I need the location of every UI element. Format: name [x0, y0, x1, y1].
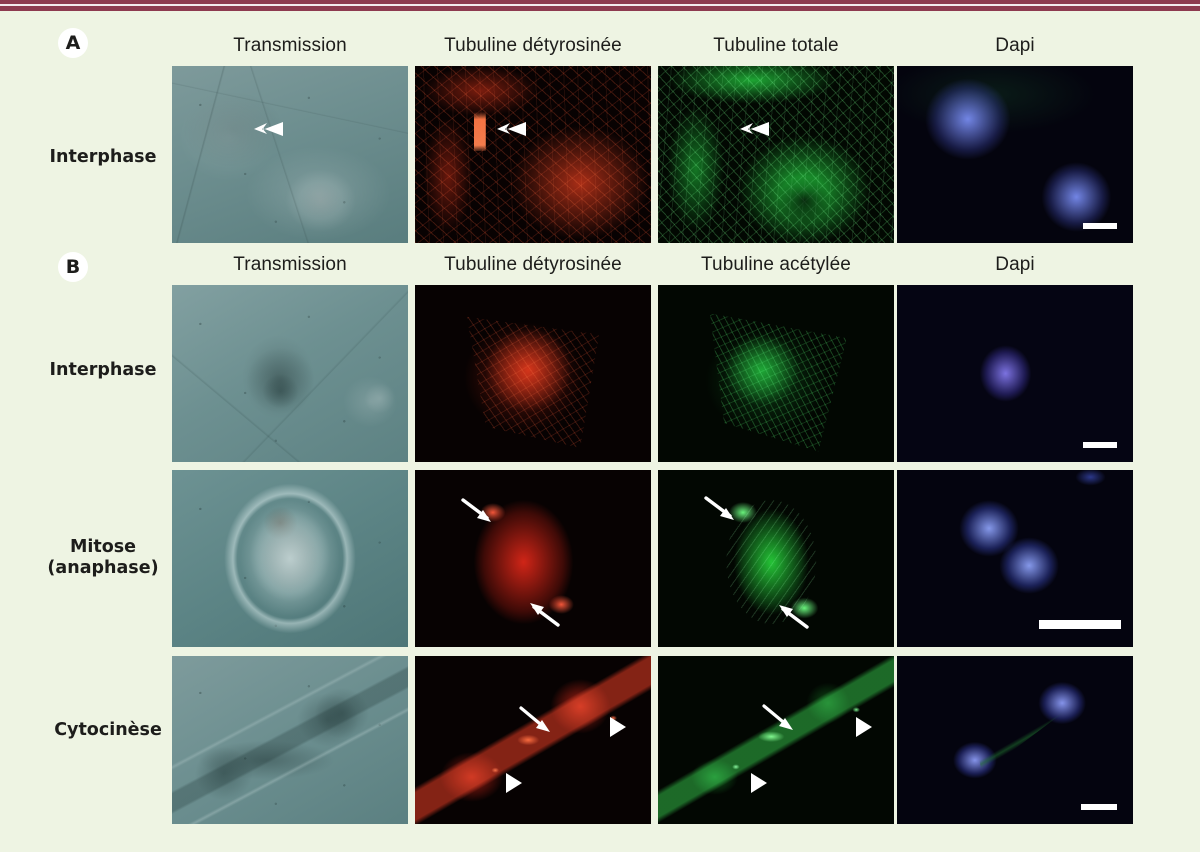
panel-b-mitosis-transmission: [172, 470, 408, 647]
green-nucleus-shadow: [658, 66, 894, 243]
panel-b-row-label-interphase: Interphase: [38, 360, 168, 381]
panel-b-header-acetylated-tubulin: Tubuline acétylée: [658, 254, 894, 276]
panel-b-interphase-dapi: [897, 285, 1133, 462]
panel-a-interphase-detyrosinated-tubulin: [415, 66, 651, 243]
transmission-cell-outline: [172, 285, 408, 462]
panel-b-interphase-transmission: [172, 285, 408, 462]
panel-a-header-total-tubulin: Tubuline totale: [658, 35, 894, 57]
scale-bar: [1081, 804, 1117, 810]
panel-a-header-dapi: Dapi: [897, 35, 1133, 57]
panel-b-header-transmission: Transmission: [172, 254, 408, 276]
panel-a-interphase-transmission: [172, 66, 408, 243]
panel-badge-b: B: [58, 252, 88, 282]
scale-bar: [1039, 620, 1121, 629]
transmission-cell-edges: [172, 656, 408, 824]
arrow-marker: [762, 704, 796, 732]
panel-b-mitosis-dapi: [897, 470, 1133, 647]
panel-b-mitosis-acetylated-tubulin: [658, 470, 894, 647]
panel-b-cytokinesis-transmission: [172, 656, 408, 824]
arrowhead-marker: [854, 716, 874, 738]
panel-b-cytokinesis-dapi: [897, 656, 1133, 824]
red-filament-network: [415, 66, 651, 243]
top-rule: [0, 0, 1200, 11]
panel-b-row-label-mitosis: Mitose (anaphase): [28, 537, 178, 580]
arrowhead-marker: [608, 716, 628, 738]
panel-b-header-dapi: Dapi: [897, 254, 1133, 276]
arrow-marker: [519, 706, 553, 734]
arrowhead-marker: [749, 772, 769, 794]
panel-a-interphase-dapi: [897, 66, 1133, 243]
micrograph-dapi: [897, 285, 1133, 462]
panel-badge-a: A: [58, 28, 88, 58]
scale-bar: [1083, 223, 1117, 229]
panel-a-header-transmission: Transmission: [172, 35, 408, 57]
arrowhead-marker: [504, 772, 524, 794]
panel-a-interphase-total-tubulin: [658, 66, 894, 243]
panel-a-row-label-interphase: Interphase: [38, 147, 168, 168]
figure-root: A Transmission Tubuline détyrosinée Tubu…: [0, 0, 1200, 852]
panel-b-mitosis-detyrosinated-tubulin: [415, 470, 651, 647]
panel-b-cytokinesis-acetylated-tubulin: [658, 656, 894, 824]
transmission-edge-lines: [172, 66, 408, 243]
arrow-marker: [461, 498, 493, 524]
panel-a-header-detyrosinated-tubulin: Tubuline détyrosinée: [415, 35, 651, 57]
arrow-marker: [528, 601, 560, 627]
arrow-marker: [704, 496, 736, 522]
top-rule-band-lower: [0, 6, 1200, 11]
panel-b-interphase-acetylated-tubulin: [658, 285, 894, 462]
scale-bar: [1083, 442, 1117, 448]
arrow-marker: [736, 118, 770, 140]
panel-b-header-detyrosinated-tubulin: Tubuline détyrosinée: [415, 254, 651, 276]
panel-b-row-label-cytokinesis: Cytocinèse: [38, 720, 178, 741]
arrow-marker: [777, 603, 809, 629]
micrograph-dapi: [897, 66, 1133, 243]
panel-b-cytokinesis-detyrosinated-tubulin: [415, 656, 651, 824]
green-intercellular-bridge: [658, 656, 894, 824]
transmission-cell-halo: [172, 470, 408, 647]
panel-b-interphase-detyrosinated-tubulin: [415, 285, 651, 462]
arrow-marker: [250, 118, 284, 140]
red-intercellular-bridge: [415, 656, 651, 824]
arrow-marker: [493, 118, 527, 140]
